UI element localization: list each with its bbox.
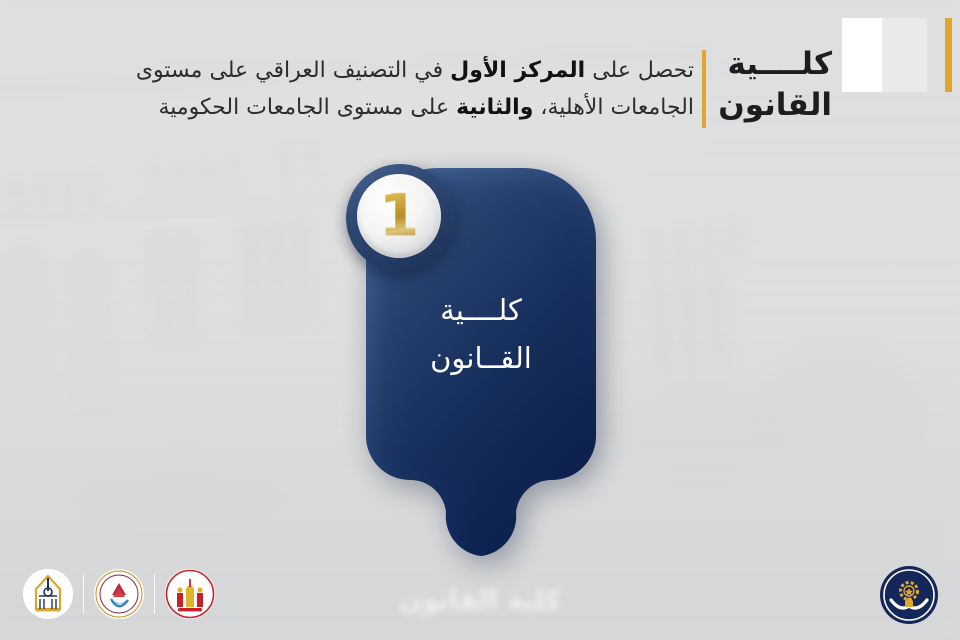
university-seal-logo-icon — [23, 569, 73, 619]
headline-line-2: الجامعات الأهلية، والثانية على مستوى الج… — [54, 89, 694, 126]
headline-line-1: تحصل على المركز الأول في التصنيف العراقي… — [54, 52, 694, 89]
footer-right-logo[interactable] — [878, 564, 940, 626]
headline-l1-pre: تحصل على — [585, 58, 694, 83]
accreditation-seal-logo-icon — [878, 564, 940, 626]
brand-logo-block — [842, 18, 960, 92]
rank-medallion-face: 1 — [357, 174, 441, 258]
poster-canvas: كلــــية القانون تحصل على المركز الأول ف… — [0, 0, 960, 640]
headline-divider — [702, 50, 706, 128]
rank-medallion: 1 — [346, 164, 454, 272]
rank-pin-label: كلــــية القــانون — [366, 286, 596, 382]
headline-l1-bold: المركز الأول — [450, 58, 585, 83]
headline-l2-post: على مستوى الجامعات الحكومية — [158, 95, 456, 120]
college-name: كلــــية القانون — [718, 44, 832, 126]
headline-l1-post: في التصنيف العراقي على مستوى — [136, 58, 450, 83]
headline-l2-pre: الجامعات الأهلية، — [533, 95, 694, 120]
brand-accent-bar — [945, 18, 952, 92]
rank-pin: كلــــية القــانون 1 — [366, 168, 596, 568]
college-red-seal-logo-icon — [165, 569, 215, 619]
headline-l2-bold: والثانية — [456, 95, 533, 120]
rank-pin-label-line1: كلــــية — [366, 286, 596, 334]
rank-number: 1 — [379, 186, 419, 244]
footer-logo-slot[interactable] — [91, 566, 147, 622]
college-name-line1: كلــــية — [718, 44, 832, 85]
college-name-line2: القانون — [718, 85, 832, 126]
footer-logo-divider — [83, 574, 84, 614]
footer-logo-slot[interactable] — [20, 566, 76, 622]
rank-pin-label-line2: القــانون — [366, 334, 596, 382]
headline-text: تحصل على المركز الأول في التصنيف العراقي… — [54, 52, 694, 126]
footer-logo-divider — [154, 574, 155, 614]
footer-logo-row — [20, 566, 218, 622]
ministry-seal-logo-icon — [94, 569, 144, 619]
footer-logo-slot[interactable] — [162, 566, 218, 622]
